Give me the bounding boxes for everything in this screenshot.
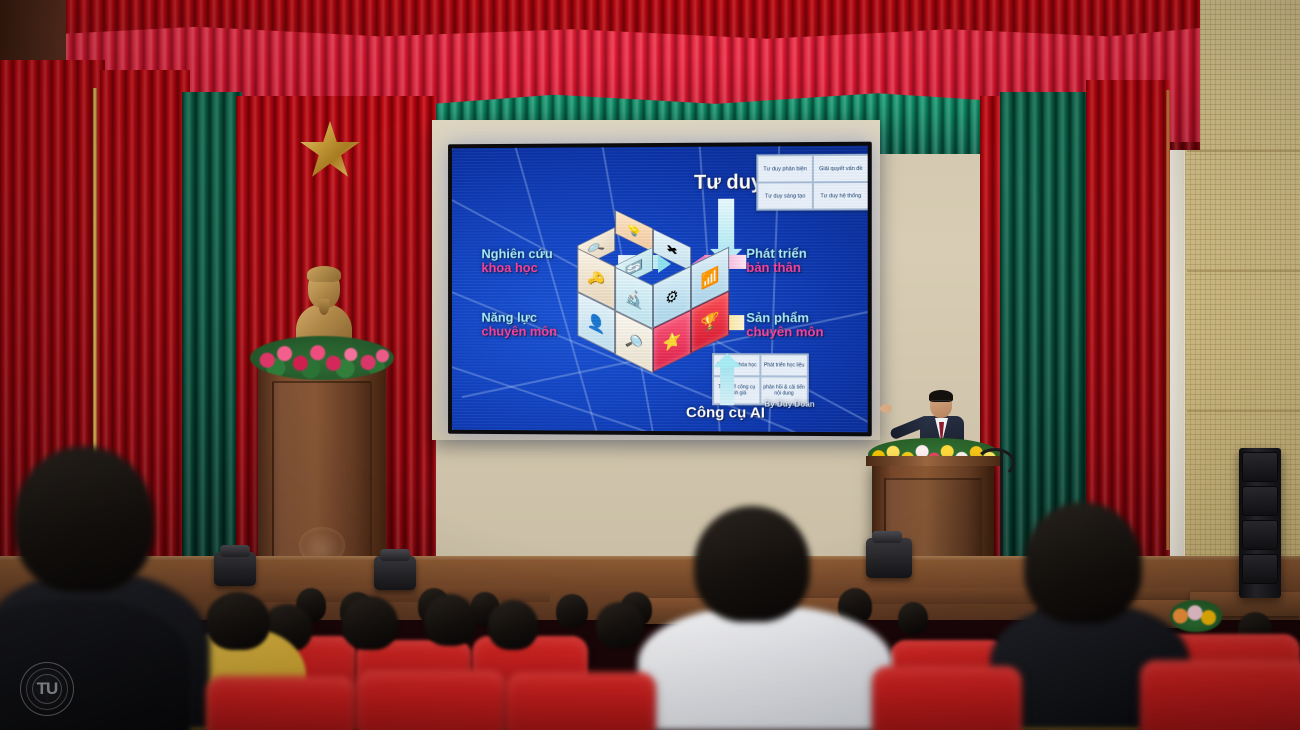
- slide-credit: By Duy Doan: [764, 401, 814, 410]
- slide-table-thinking-cell-1: Tư duy phản biện: [757, 155, 813, 182]
- pedestal-flower-arrangement: [250, 336, 394, 380]
- cable-loop: [975, 448, 1015, 478]
- line-array-speaker: [1239, 448, 1281, 598]
- speaker-cell: [1242, 554, 1278, 584]
- slide-label-top: Tư duy: [694, 172, 762, 194]
- upper-left-wood-block: [0, 0, 66, 60]
- slide-label-competence-line1: Năng lực: [481, 311, 537, 325]
- led-screen: Tư duy Tư duy phản biệnGiải quyết vấn đề…: [452, 146, 868, 433]
- slide-table-thinking-cell-3: Tư duy sáng tạo: [757, 182, 813, 209]
- slide-table-products-cell-2: Phát triển học liệu: [760, 354, 807, 376]
- audience-head: [14, 446, 154, 592]
- audience-head: [342, 596, 398, 650]
- audience-person-white-shirt: [638, 606, 892, 730]
- conference-hall-photo: Tư duy Tư duy phản biệnGiải quyết vấn đề…: [0, 0, 1300, 730]
- bust-pedestal: [258, 355, 386, 585]
- slide-label-selfdev-line2: bản thân: [746, 261, 801, 275]
- audience-head: [424, 594, 476, 646]
- slide-table-thinking-cell-4: Tư duy hệ thống: [813, 182, 868, 209]
- panel-seam: [1187, 270, 1300, 272]
- slide-label-research-line1: Nghiên cứu: [481, 247, 552, 261]
- slide-label-selfdev-line1: Phát triển: [746, 247, 807, 261]
- stage-moving-light: [866, 538, 912, 578]
- speaker-cell: [1242, 452, 1278, 482]
- star-icon: [299, 121, 361, 181]
- slide-table-thinking: Tư duy phản biệnGiải quyết vấn đềTư duy …: [756, 154, 867, 211]
- auditorium-seat: [1140, 660, 1300, 730]
- speaker-cell: [1242, 520, 1278, 550]
- audience-head: [596, 602, 644, 648]
- bust-beard: [319, 299, 329, 315]
- speaker-cell: [1242, 486, 1278, 516]
- slide-label-product-line2: chuyên môn: [746, 325, 823, 339]
- slide-label-competence-line2: chuyên môn: [481, 325, 557, 339]
- audience-head: [694, 506, 810, 622]
- rubiks-cube: 🔍 💡 🔄 ✖ 🔑 🔬 👤 🔎 ⚙ 📶 ⭐ 🏆: [556, 225, 706, 375]
- audience-head: [556, 594, 588, 628]
- curtain-left-green: [182, 92, 242, 592]
- university-watermark-logo: TU: [20, 662, 74, 716]
- curtain-gold-strip-right: [1166, 90, 1170, 550]
- watermark-monogram: TU: [37, 679, 58, 699]
- bust-hair: [307, 266, 341, 282]
- cube-tile-top-2: 💡: [615, 210, 653, 252]
- presenter-glasses-icon: [931, 400, 951, 405]
- audience-head: [206, 592, 270, 650]
- arrow-down-shaft: [718, 199, 734, 251]
- slide-table-thinking-cell-2: Giải quyết vấn đề: [813, 155, 868, 182]
- gold-star-emblem: [299, 121, 361, 181]
- slide-label-product-line1: Sản phẩm: [746, 311, 809, 325]
- slide-label-research-line2: khoa học: [481, 261, 537, 275]
- stage-moving-light: [374, 556, 416, 590]
- audience-head: [488, 600, 538, 650]
- side-flower-bouquet: [1170, 600, 1222, 632]
- panel-seam: [1187, 150, 1300, 152]
- led-screen-bezel: Tư duy Tư duy phản biệnGiải quyết vấn đề…: [448, 142, 872, 437]
- arrow-up-shaft: [720, 365, 734, 405]
- auditorium-seat: [506, 672, 656, 730]
- stage-moving-light: [214, 552, 256, 586]
- cube-tile-top-4: ✖: [653, 229, 691, 271]
- auditorium-seat: [872, 666, 1022, 730]
- panel-seam: [1187, 410, 1300, 412]
- audience-head: [898, 602, 928, 634]
- slide-label-bottom: Công cụ AI: [686, 405, 765, 421]
- auditorium-seat: [206, 676, 356, 730]
- arrow-up-head: [713, 353, 741, 367]
- presenter-hand: [880, 404, 892, 413]
- foreground-silhouette: [0, 600, 190, 730]
- auditorium-seat: [356, 670, 506, 730]
- audience-head: [1024, 502, 1142, 624]
